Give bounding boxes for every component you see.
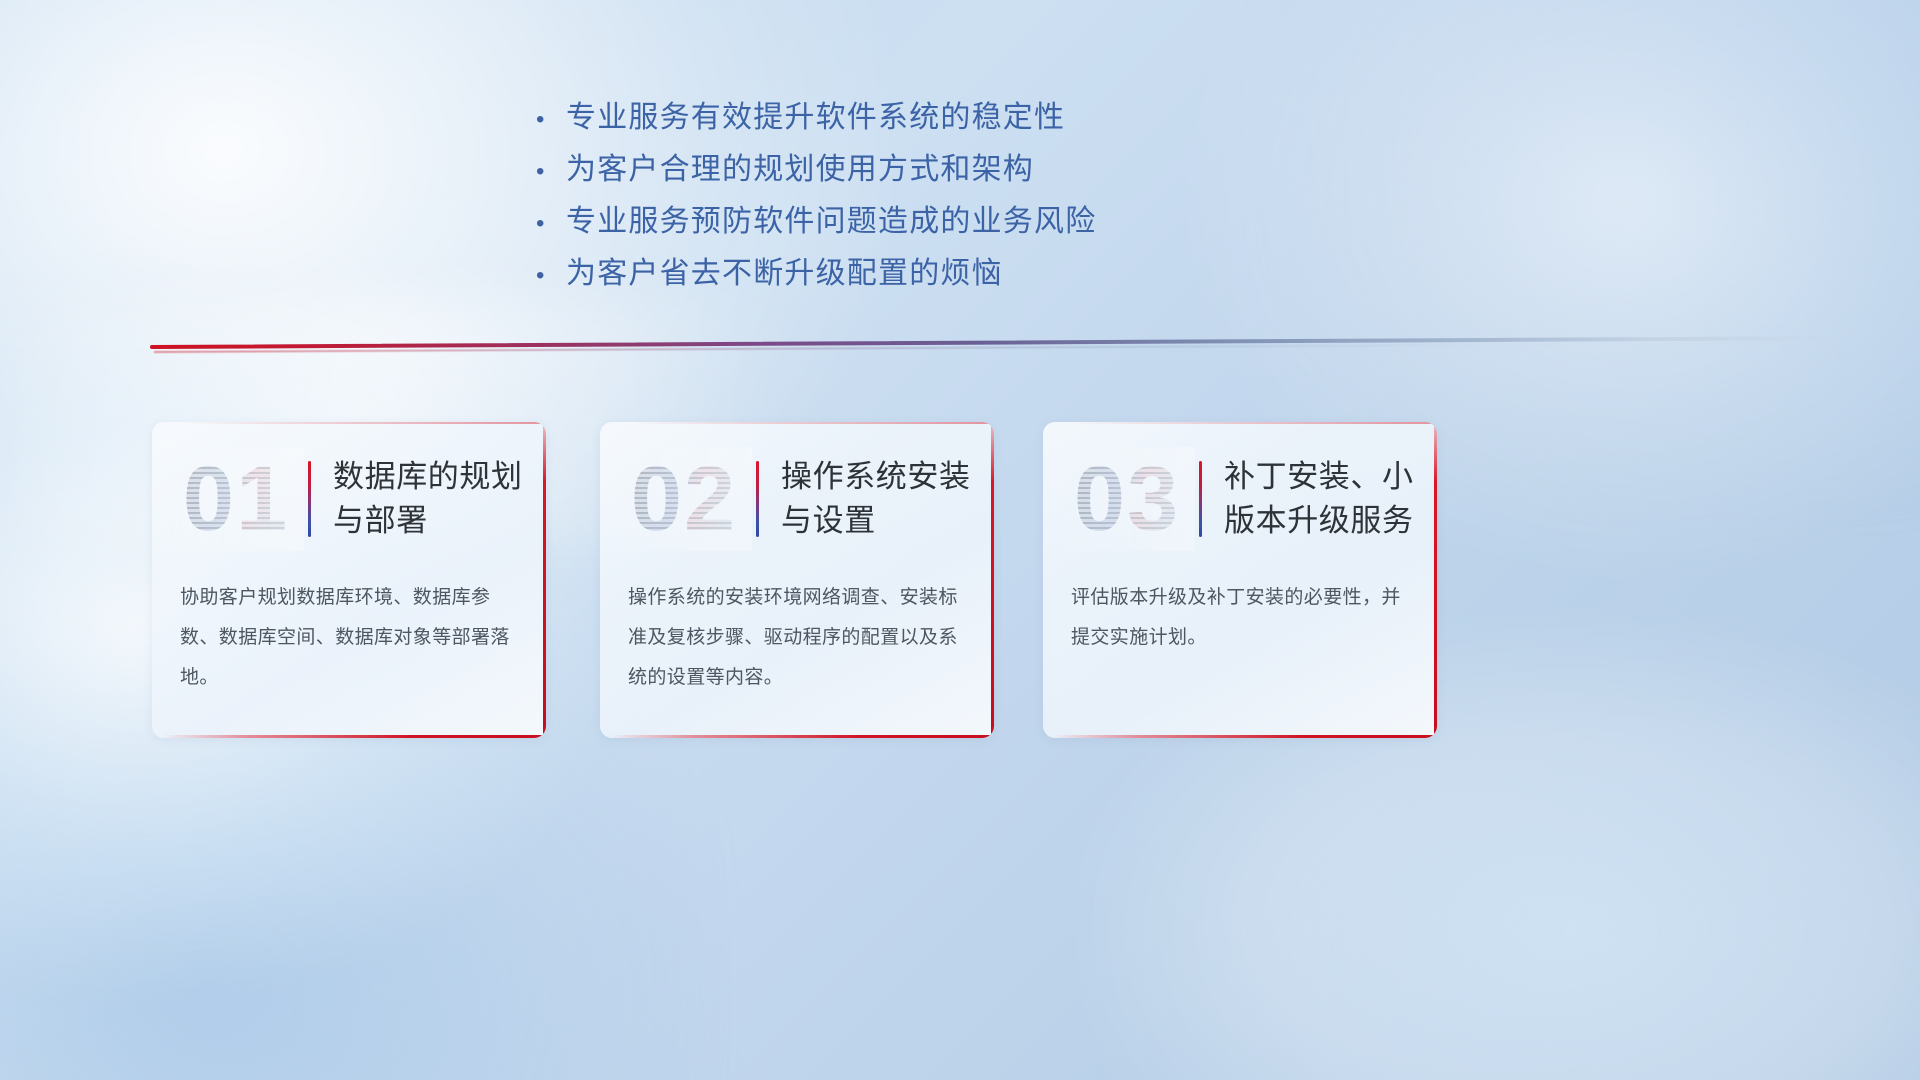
card-row: 01 数据库的规划与部署 协助客户规划数据库环境、数据库参数、数据库空间、数据库… — [0, 422, 1920, 752]
card-accent-top — [628, 422, 990, 424]
card-number-watermark: 01 — [168, 447, 304, 551]
card-description: 协助客户规划数据库环境、数据库参数、数据库空间、数据库对象等部署落地。 — [180, 578, 522, 698]
card-number-watermark: 02 — [616, 447, 752, 551]
card-title-divider-bar — [308, 461, 311, 537]
bullet-text: 为客户省去不断升级配置的烦恼 — [566, 248, 1003, 292]
card-accent-top — [180, 422, 542, 424]
bullet-text: 专业服务预防软件问题造成的业务风险 — [566, 196, 1096, 240]
card-title-divider-bar — [756, 461, 759, 537]
list-item: • 为客户省去不断升级配置的烦恼 — [536, 248, 1296, 300]
bullet-dot-icon: • — [536, 160, 566, 184]
card-header: 03 补丁安装、小版本升级服务 — [1043, 444, 1437, 554]
bullet-dot-icon: • — [536, 212, 566, 236]
card-title: 数据库的规划与部署 — [333, 455, 546, 543]
card-accent-bottom — [1053, 735, 1437, 738]
card-title: 补丁安装、小版本升级服务 — [1224, 455, 1437, 543]
bullet-text: 为客户合理的规划使用方式和架构 — [566, 144, 1034, 188]
list-item: • 专业服务预防软件问题造成的业务风险 — [536, 196, 1296, 248]
card-accent-bottom — [162, 735, 546, 738]
section-divider — [150, 343, 1850, 359]
card-accent-top — [1071, 422, 1433, 424]
bullet-list: • 专业服务有效提升软件系统的稳定性 • 为客户合理的规划使用方式和架构 • 专… — [536, 92, 1296, 300]
service-card-03[interactable]: 03 补丁安装、小版本升级服务 评估版本升级及补丁安装的必要性，并提交实施计划。 — [1043, 422, 1437, 738]
list-item: • 专业服务有效提升软件系统的稳定性 — [536, 92, 1296, 144]
bullet-dot-icon: • — [536, 108, 566, 132]
bullet-text: 专业服务有效提升软件系统的稳定性 — [566, 92, 1065, 136]
bullet-dot-icon: • — [536, 264, 566, 288]
card-description: 评估版本升级及补丁安装的必要性，并提交实施计划。 — [1071, 578, 1413, 658]
service-card-01[interactable]: 01 数据库的规划与部署 协助客户规划数据库环境、数据库参数、数据库空间、数据库… — [152, 422, 546, 738]
card-accent-bottom — [610, 735, 994, 738]
card-number-watermark: 03 — [1059, 447, 1195, 551]
service-card-02[interactable]: 02 操作系统安装与设置 操作系统的安装环境网络调查、安装标准及复核步骤、驱动程… — [600, 422, 994, 738]
card-description: 操作系统的安装环境网络调查、安装标准及复核步骤、驱动程序的配置以及系统的设置等内… — [628, 578, 970, 698]
card-header: 01 数据库的规划与部署 — [152, 444, 546, 554]
list-item: • 为客户合理的规划使用方式和架构 — [536, 144, 1296, 196]
card-title-divider-bar — [1199, 461, 1202, 537]
card-header: 02 操作系统安装与设置 — [600, 444, 994, 554]
card-title: 操作系统安装与设置 — [781, 455, 994, 543]
